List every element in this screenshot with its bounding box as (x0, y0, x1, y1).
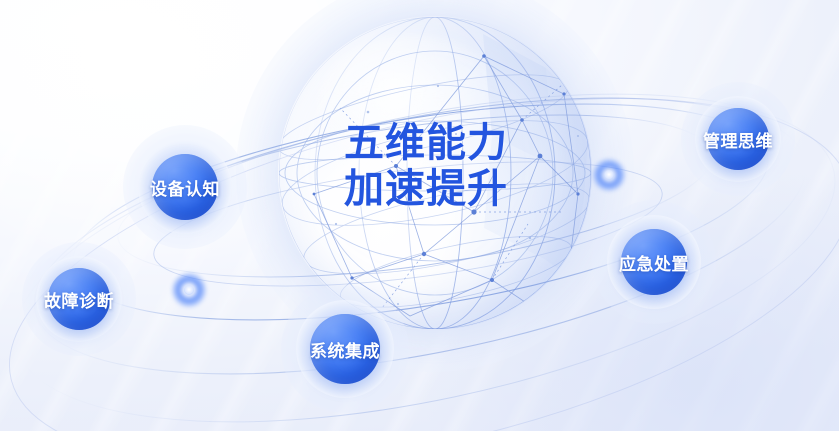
spark-core (184, 285, 195, 296)
infographic-canvas: 五维能力 加速提升 设备认知 故障诊断 系统集成 应急处置 管理思维 (0, 0, 839, 431)
node-equipment-cognition[interactable]: 设备认知 (123, 125, 247, 249)
node-emergency-response[interactable]: 应急处置 (592, 200, 716, 324)
spark-dot-left (172, 273, 206, 307)
spark-glow (172, 273, 206, 307)
node-label: 管理思维 (703, 127, 773, 152)
node-system-integration[interactable]: 系统集成 (281, 285, 409, 413)
node-label: 系统集成 (310, 337, 380, 362)
node-label: 应急处置 (619, 250, 689, 275)
headline-line-2: 加速提升 (344, 166, 574, 212)
headline: 五维能力 加速提升 (344, 120, 574, 213)
node-fault-diagnosis[interactable]: 故障诊断 (22, 242, 136, 356)
node-label: 设备认知 (150, 175, 220, 200)
node-label: 故障诊断 (44, 287, 114, 312)
node-management-thinking[interactable]: 管理思维 (681, 82, 795, 196)
headline-line-1: 五维能力 (344, 120, 574, 166)
